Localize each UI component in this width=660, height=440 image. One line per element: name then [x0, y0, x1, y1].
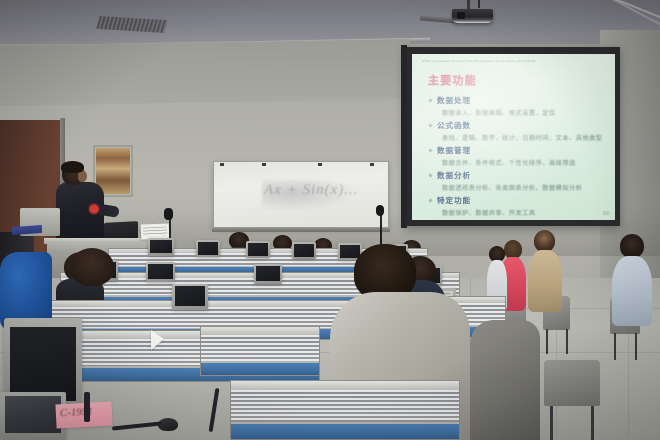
monitor-screen	[148, 264, 172, 279]
slide-section-heading-3: 数据管理	[428, 145, 607, 156]
slide-section-heading-5: 特定功能	[428, 195, 607, 206]
attendee-head	[620, 234, 644, 258]
monitor-screen	[198, 242, 218, 255]
chair[interactable]	[544, 360, 600, 440]
slide-body: 数据处理 数据录入、数据编辑、格式设置、定位 公式函数 查找、逻辑、数学、统计、…	[428, 94, 607, 220]
desk-blue-panel	[201, 363, 319, 375]
desk-glass-panel	[231, 390, 459, 421]
paper-cone	[151, 330, 164, 350]
monitor-screen	[175, 286, 205, 306]
list-item	[612, 234, 652, 342]
projector-cable	[478, 0, 480, 8]
chair-leg	[566, 329, 568, 354]
whiteboard-clip	[318, 163, 322, 166]
upper-left-wall	[0, 39, 410, 106]
ceiling-projector	[452, 9, 493, 23]
attendee-head	[70, 248, 114, 286]
whiteboard-clip	[262, 163, 266, 166]
chair-leg	[550, 406, 553, 440]
projector-lens-icon	[457, 12, 465, 19]
slide-section-detail-2: 查找、逻辑、数学、统计、日期时间、文本、其他类型	[442, 133, 607, 142]
monitor-screen	[294, 244, 314, 257]
monitor[interactable]	[148, 238, 174, 256]
attendee-head	[534, 230, 555, 252]
desk-blue-panel	[231, 424, 459, 439]
monitor[interactable]	[172, 284, 208, 310]
list-item	[470, 320, 540, 440]
whiteboard-clip	[370, 163, 374, 166]
list-item	[60, 248, 122, 318]
monitor[interactable]	[246, 241, 270, 258]
slide-section-detail-4: 数据透视表分析、各类图表分析、数据模拟分析	[442, 183, 607, 192]
whiteboard-faint-writing: Ax + Sin(x)...	[264, 182, 359, 199]
monitor[interactable]	[254, 264, 282, 284]
monitor[interactable]	[196, 240, 220, 257]
monitor-screen	[10, 327, 76, 401]
chair-leg	[546, 329, 548, 354]
workstation-row	[200, 326, 320, 376]
slide-header-note: Office Automation Series | Data Manageme…	[422, 59, 607, 63]
attendee-body	[470, 320, 540, 440]
whiteboard: Ax + Sin(x)...	[213, 161, 389, 228]
desk-rail	[231, 381, 459, 390]
chair-back	[544, 360, 600, 406]
desk-glass-panel	[201, 335, 319, 361]
whiteboard-clip	[220, 163, 224, 166]
projection-screen-frame: Office Automation Series | Data Manageme…	[404, 47, 620, 226]
cable	[84, 392, 90, 422]
slide-title: 主要功能	[428, 72, 477, 88]
desk-rail	[201, 327, 319, 335]
workstation-row	[230, 380, 460, 440]
slide-section-heading-1: 数据处理	[428, 95, 607, 106]
monitor-screen	[248, 243, 268, 256]
chair-leg	[591, 406, 594, 440]
notes-text-lines	[143, 227, 167, 237]
monitor-screen	[5, 396, 60, 433]
presenter-shirt-logo	[89, 204, 99, 214]
slide-section-heading-4: 数据分析	[428, 170, 607, 181]
projected-slide: Office Automation Series | Data Manageme…	[412, 54, 615, 220]
slide-corner-mark	[603, 211, 609, 215]
monitor-screen	[150, 240, 172, 254]
slide-section-detail-5: 数据保护、数据共享、开发工具	[442, 208, 607, 217]
slide-section-detail-3: 数据合并、条件格式、个性化排序、高级筛选	[442, 158, 607, 167]
slide-section-heading-2: 公式函数	[428, 120, 607, 131]
microphone-head-right-icon	[376, 205, 384, 216]
slide-section-detail-1: 数据录入、数据编辑、格式设置、定位	[442, 108, 607, 117]
attendee-body	[612, 256, 652, 326]
monitor[interactable]	[146, 262, 175, 282]
classroom-scene: Ax + Sin(x)... Office Automation Series …	[0, 0, 660, 440]
attendee-body	[528, 250, 562, 312]
presenter-hair	[61, 161, 84, 173]
list-item	[528, 230, 562, 330]
monitor-screen	[256, 266, 280, 281]
microphone-head-left-icon	[164, 208, 173, 220]
monitor[interactable]	[292, 242, 316, 259]
